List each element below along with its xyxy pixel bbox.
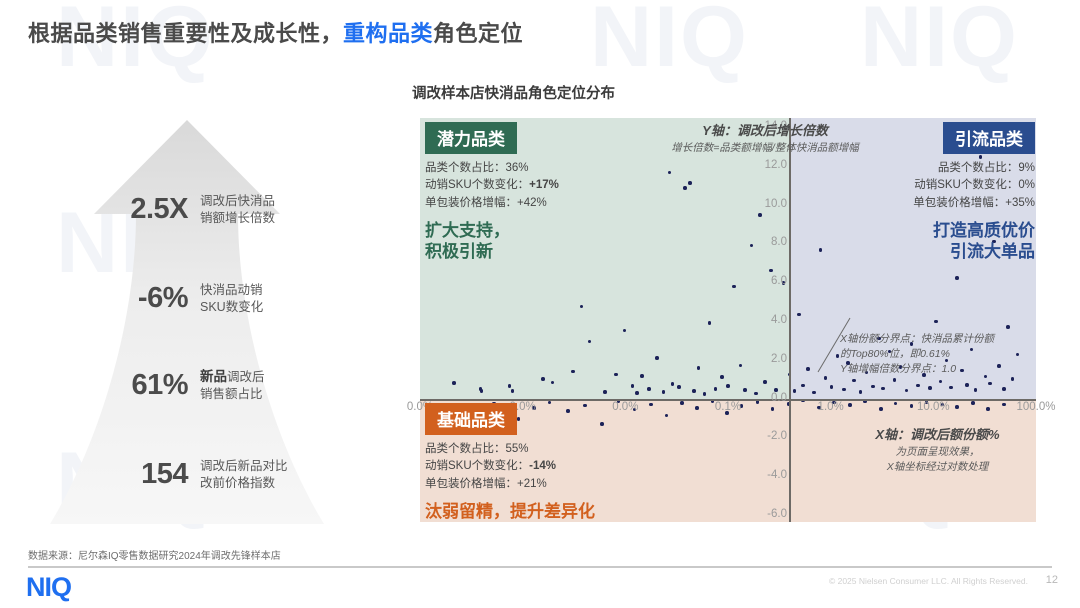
kpi-label-2: 新品调改后 销售额占比 (200, 368, 265, 403)
scatter-point (647, 387, 651, 391)
stat-value: 36% (506, 162, 529, 174)
scatter-point (480, 389, 484, 393)
scatter-point (708, 321, 712, 325)
quadrant-slogan-bottom-left: 汰弱留精，提升差异化 (425, 501, 675, 522)
page-number: 12 (1046, 574, 1058, 586)
annotation-y-axis: Y轴：调改后增长倍数 增长倍数=品类额增幅/整体快消品额增幅 (630, 120, 900, 156)
page-title-part-1: 根据品类销售重要性及成长性， (28, 21, 343, 46)
kpi-item-3: 154 调改后新品对比 改前价格指数 (92, 458, 288, 492)
stat-row: 单包装价格增幅：+35% (855, 195, 1035, 212)
quadrant-stats-top-right: 品类个数占比：9% 动销SKU个数变化：0% 单包装价格增幅：+35% (855, 160, 1035, 212)
stat-row: 单包装价格增幅：+21% (425, 476, 675, 493)
stat-value: +42% (517, 197, 547, 209)
kpi-label-3: 调改后新品对比 改前价格指数 (200, 458, 288, 492)
stat-label: 单包装价格增幅： (425, 478, 517, 490)
quadrant-stats-bottom-left: 品类个数占比：55% 动销SKU个数变化：-14% 单包装价格增幅：+21% (425, 441, 675, 493)
slogan-line-1: 扩大支持， (425, 220, 655, 241)
y-axis-tick: 6.0 (771, 275, 787, 287)
chart-title: 调改样本店快消品角色定位分布 (412, 82, 615, 103)
scatter-point (603, 390, 607, 394)
stat-row: 动销SKU个数变化：+17% (425, 177, 655, 194)
stat-label: 动销SKU个数变化： (914, 179, 1018, 191)
x-axis-tick: 100.0% (1016, 401, 1055, 413)
kpi-label-1: 快消品动销 SKU数变化 (200, 282, 263, 316)
kpi-label-2-line1-text: 调改后 (227, 370, 265, 384)
scatter-point (680, 401, 684, 405)
scatter-point (452, 381, 456, 385)
scatter-point (614, 373, 618, 377)
scatter-point (842, 388, 846, 392)
y-axis-tick: 2.0 (771, 353, 787, 365)
stat-value: 9% (1018, 162, 1035, 174)
stat-row: 品类个数占比：36% (425, 160, 655, 177)
stat-row: 动销SKU个数变化：-14% (425, 458, 675, 475)
scatter-point (631, 384, 635, 388)
quadrant-stats-top-left: 品类个数占比：36% 动销SKU个数变化：+17% 单包装价格增幅：+42% (425, 160, 655, 212)
quadrant-tag-basic: 基础品类 (425, 403, 517, 435)
scatter-point (697, 366, 701, 370)
y-axis-tick-labels: 14.012.010.08.06.04.02.00.0-2.0-4.0-6.0 (725, 118, 787, 522)
scatter-point (635, 391, 639, 395)
kpi-label-0-line2: 销额增长倍数 (200, 210, 275, 227)
stat-value: -14% (529, 460, 556, 472)
quadrant-tag-traffic: 引流品类 (943, 122, 1035, 154)
scatter-point (893, 378, 897, 382)
stat-label: 品类个数占比： (425, 443, 506, 455)
quadrant-label-top-left: 潜力品类 品类个数占比：36% 动销SKU个数变化：+17% 单包装价格增幅：+… (425, 122, 655, 262)
y-axis-tick: 4.0 (771, 314, 787, 326)
kpi-label-3-line2: 改前价格指数 (200, 475, 288, 492)
kpi-item-1: -6% 快消品动销 SKU数变化 (92, 282, 263, 316)
copyright-text: © 2025 Nielsen Consumer LLC. All Rights … (829, 576, 1028, 586)
watermark-3: NIQ (860, 0, 1019, 80)
stat-label: 单包装价格增幅： (425, 197, 517, 209)
y-axis-tick: 12.0 (765, 159, 787, 171)
scatter-point (640, 374, 644, 378)
stat-value: 0% (1018, 179, 1035, 191)
scatter-point (986, 407, 990, 411)
kpi-label-2-bold: 新品 (200, 369, 227, 384)
scatter-point (797, 313, 801, 317)
footer-divider (28, 566, 1052, 568)
stat-value: 55% (506, 443, 529, 455)
stat-row: 品类个数占比：9% (855, 160, 1035, 177)
annotation-threshold-line-1: X轴份额分界点：快消品累计份额 (840, 332, 1050, 347)
scatter-point (662, 390, 666, 394)
annotation-x-axis: X轴：调改后额份额% 为页面呈现效果， X轴坐标经过对数处理 (830, 424, 1045, 475)
scatter-point (955, 276, 959, 280)
scatter-point (806, 367, 810, 371)
page-title-part-2: 角色定位 (433, 21, 523, 46)
annotation-x-axis-head: X轴：调改后额份额% (830, 424, 1045, 443)
scatter-point (928, 386, 932, 390)
quadrant-label-bottom-left: 基础品类 品类个数占比：55% 动销SKU个数变化：-14% 单包装价格增幅：+… (425, 403, 675, 522)
stat-label: 单包装价格增幅： (913, 197, 1005, 209)
page-title: 根据品类销售重要性及成长性，重构品类角色定位 (28, 16, 523, 48)
scatter-point (683, 186, 687, 190)
kpi-item-0: 2.5X 调改后快消品 销额增长倍数 (92, 193, 275, 227)
kpi-value-3: 154 (92, 458, 188, 491)
stat-label: 动销SKU个数变化： (425, 179, 529, 191)
scatter-point (988, 382, 992, 386)
annotation-threshold-line-3: Y轴增幅倍数分界点：1.0 (840, 362, 1050, 377)
kpi-label-2-line1: 新品调改后 (200, 368, 265, 386)
kpi-value-0: 2.5X (92, 193, 188, 226)
stat-row: 动销SKU个数变化：0% (855, 177, 1035, 194)
scatter-point (1002, 387, 1006, 391)
scatter-point (871, 385, 875, 389)
slogan-line-1: 汰弱留精，提升差异化 (425, 501, 675, 522)
stat-value: +17% (529, 179, 559, 191)
scatter-point (830, 385, 834, 389)
scatter-point (1006, 325, 1010, 329)
scatter-point (916, 384, 920, 388)
quadrant-tag-potential: 潜力品类 (425, 122, 517, 154)
niq-logo: NIQ (26, 572, 71, 603)
kpi-label-2-line2: 销售额占比 (200, 386, 265, 403)
y-axis-tick: -4.0 (767, 469, 787, 481)
annotation-threshold-line-2: 的Top80%位，即0.61% (840, 347, 1050, 362)
y-axis-tick: 0.0 (771, 392, 787, 404)
scatter-point (655, 356, 659, 360)
kpi-item-2: 61% 新品调改后 销售额占比 (92, 368, 265, 403)
x-axis-tick: 0.1% (715, 401, 741, 413)
watermark-2: NIQ (590, 0, 749, 80)
annotation-y-axis-head: Y轴：调改后增长倍数 (630, 120, 900, 139)
scatter-point (720, 375, 724, 379)
annotation-x-axis-sub-1: 为页面呈现效果， (830, 445, 1045, 460)
stat-value: +21% (517, 478, 547, 490)
stat-label: 动销SKU个数变化： (425, 460, 529, 472)
scatter-point (812, 391, 816, 395)
scatter-point (859, 390, 863, 394)
y-axis-tick: 10.0 (765, 198, 787, 210)
scatter-point (692, 389, 696, 393)
y-axis-tick: -2.0 (767, 430, 787, 442)
kpi-label-1-line2: SKU数变化 (200, 299, 263, 316)
quadrant-slogan-top-left: 扩大支持， 积极引新 (425, 220, 655, 263)
annotation-x-axis-sub-2: X轴坐标经过对数处理 (830, 460, 1045, 475)
scatter-point (848, 403, 852, 407)
annotation-y-axis-sub: 增长倍数=品类额增幅/整体快消品额增幅 (630, 141, 900, 156)
scatter-point (971, 401, 975, 405)
x-axis-tick: 10.0% (917, 401, 950, 413)
slogan-line-2: 引流大单品 (855, 241, 1035, 262)
stat-row: 品类个数占比：55% (425, 441, 675, 458)
scatter-point (955, 405, 959, 409)
y-axis-tick: 8.0 (771, 236, 787, 248)
scatter-point (508, 384, 512, 388)
page-title-highlight: 重构品类 (343, 21, 433, 46)
x-axis-tick: 1.0% (818, 401, 844, 413)
scatter-point (677, 385, 681, 389)
kpi-label-3-line1: 调改后新品对比 (200, 458, 288, 475)
scatter-point (824, 376, 828, 380)
kpi-label-1-line1: 快消品动销 (200, 282, 263, 299)
kpi-label-0: 调改后快消品 销额增长倍数 (200, 193, 275, 227)
scatter-point (511, 389, 515, 393)
stat-label: 品类个数占比： (938, 162, 1019, 174)
annotation-thresholds: X轴份额分界点：快消品累计份额 的Top80%位，即0.61% Y轴增幅倍数分界… (840, 330, 1050, 378)
scatter-point (819, 248, 823, 252)
stat-value: +35% (1005, 197, 1035, 209)
slogan-line-1: 打造高质优价 (855, 220, 1035, 241)
scatter-point (541, 377, 545, 381)
stat-label: 品类个数占比： (425, 162, 506, 174)
scatter-point (965, 383, 969, 387)
kpi-label-0-line1: 调改后快消品 (200, 193, 275, 210)
scatter-point (571, 370, 575, 374)
y-axis-tick: -6.0 (767, 508, 787, 520)
data-source-text: 数据来源：尼尔森IQ零售数据研究2024年调改先锋样本店 (28, 547, 281, 562)
scatter-point (703, 392, 707, 396)
scatter-point (949, 386, 953, 390)
kpi-value-2: 61% (92, 369, 188, 402)
kpi-value-1: -6% (92, 282, 188, 315)
slogan-line-2: 积极引新 (425, 241, 655, 262)
y-axis-line (789, 118, 791, 522)
quadrant-slogan-top-right: 打造高质优价 引流大单品 (855, 220, 1035, 263)
scatter-point (879, 407, 883, 411)
stat-row: 单包装价格增幅：+42% (425, 195, 655, 212)
scatter-point (688, 181, 692, 185)
